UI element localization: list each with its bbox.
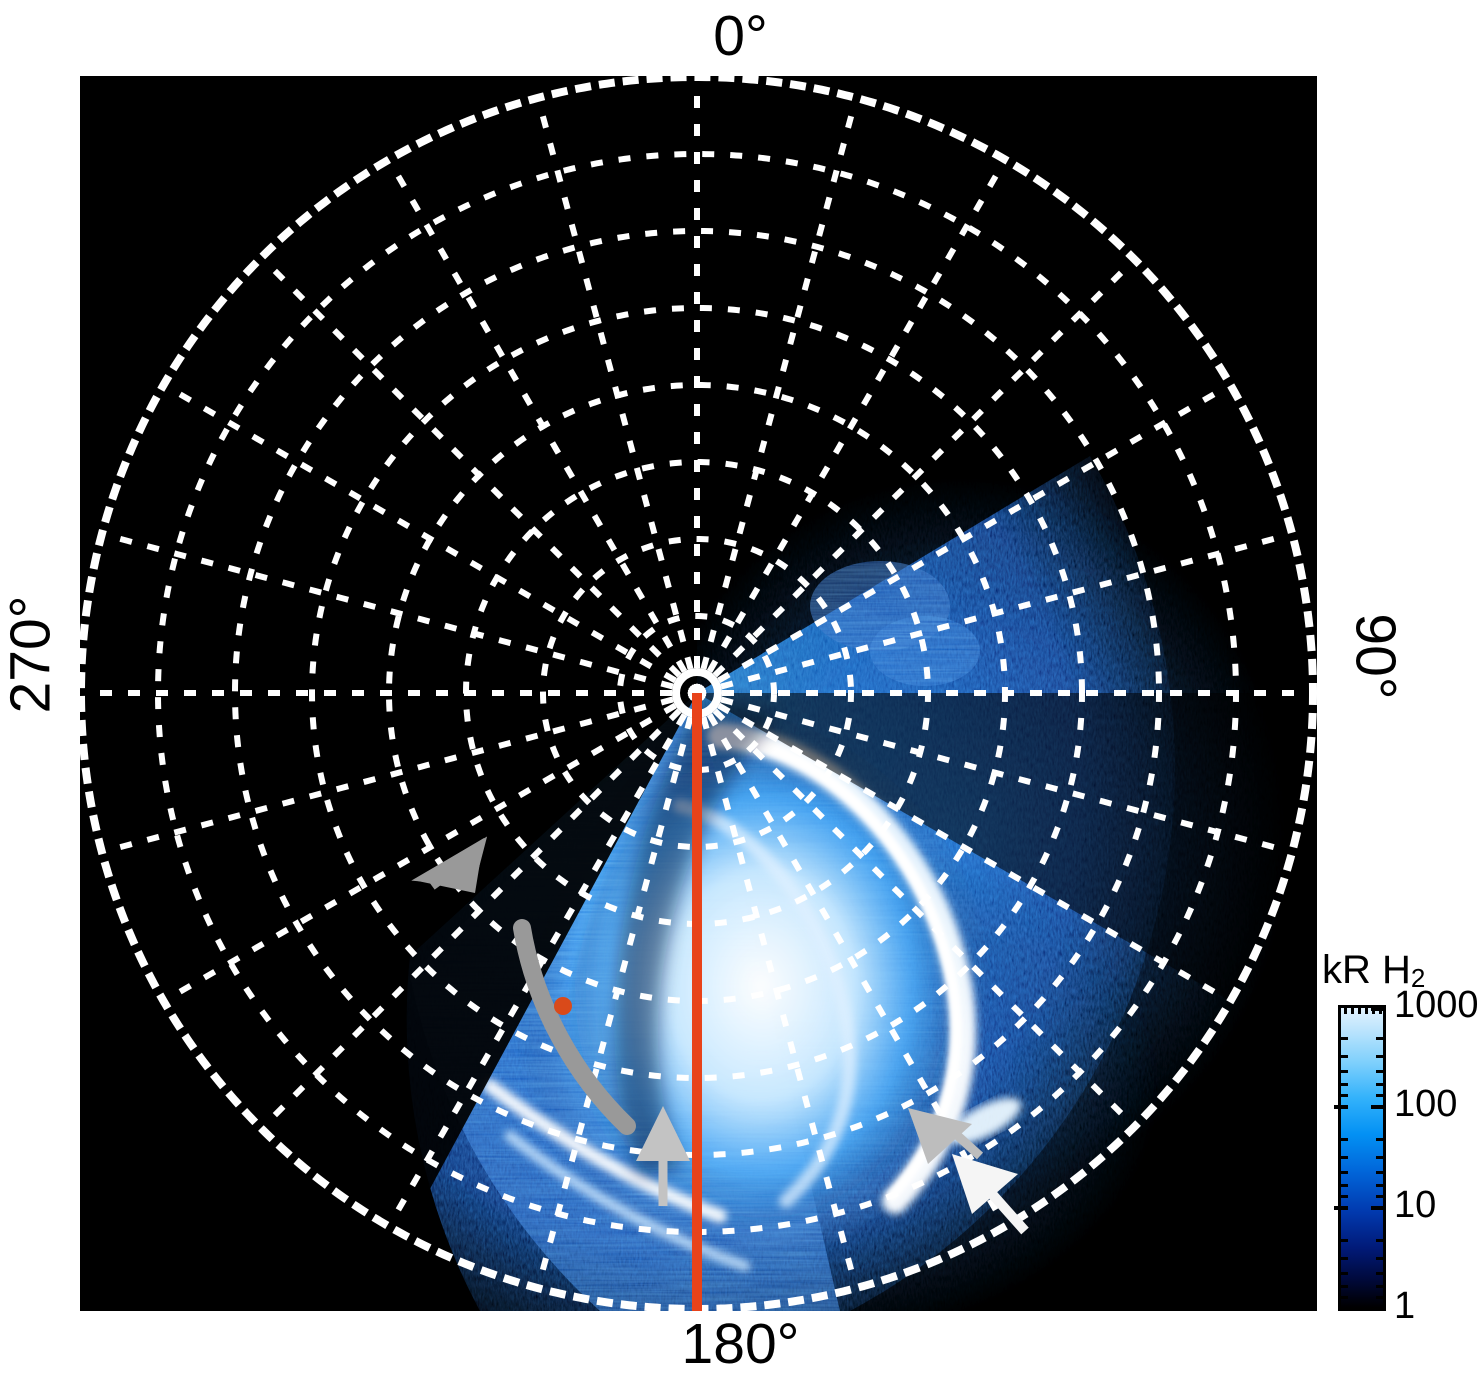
colorbar-minor-tick (1338, 1138, 1348, 1141)
axis-label-270: 270° (3, 555, 60, 755)
colorbar-minor-tick (1376, 1272, 1386, 1275)
colorbar-minor-tick (1376, 1184, 1386, 1187)
colorbar-minor-tick (1338, 1037, 1348, 1040)
colorbar-minor-tick (1338, 1171, 1348, 1174)
colorbar-minor-tick (1338, 1055, 1348, 1058)
colorbar-minor-tick (1358, 1005, 1361, 1014)
colorbar-tick-100 (1371, 1105, 1386, 1109)
polar-plot-svg (80, 76, 1317, 1311)
colorbar-minor-tick (1376, 1257, 1386, 1260)
colorbar-tick-1 (1371, 1307, 1386, 1311)
colorbar-minor-tick (1338, 1296, 1348, 1299)
colorbar-minor-tick (1338, 1257, 1348, 1260)
colorbar-minor-tick (1376, 1055, 1386, 1058)
colorbar-minor-tick (1376, 1239, 1386, 1242)
axis-label-0: 0° (0, 8, 1481, 65)
colorbar-tick-10 (1371, 1206, 1386, 1210)
colorbar-minor-tick (1376, 1094, 1386, 1097)
colorbar-minor-tick (1338, 1285, 1348, 1288)
colorbar-minor-tick (1376, 1037, 1386, 1040)
colorbar-minor-tick (1365, 1005, 1368, 1014)
colorbar-minor-tick (1344, 1005, 1347, 1014)
axis-label-180: 180° (0, 1316, 1481, 1373)
colorbar-minor-tick (1338, 1184, 1348, 1187)
colorbar-minor-tick (1338, 1083, 1348, 1086)
polar-aurora-figure: 0° 90° 180° 270° kR H2 (0, 0, 1481, 1386)
colorbar: kR H2 (1318, 950, 1481, 1330)
axis-label-90: 90° (1347, 557, 1404, 757)
colorbar-minor-tick (1338, 1239, 1348, 1242)
colorbar-minor-tick (1376, 1296, 1386, 1299)
orange-dot-marker (554, 997, 572, 1015)
colorbar-minor-tick (1376, 1195, 1386, 1198)
colorbar-minor-tick (1334, 1206, 1348, 1210)
colorbar-minor-tick (1338, 1156, 1348, 1159)
colorbar-minor-tick (1334, 1105, 1348, 1109)
polar-plot-panel (80, 76, 1317, 1311)
colorbar-label-1: 1 (1394, 1287, 1415, 1325)
colorbar-minor-tick (1376, 1285, 1386, 1288)
colorbar-label-100: 100 (1394, 1085, 1457, 1123)
colorbar-minor-tick (1376, 1138, 1386, 1141)
colorbar-minor-tick (1376, 1156, 1386, 1159)
colorbar-minor-tick (1351, 1005, 1354, 1014)
colorbar-minor-tick (1338, 1195, 1348, 1198)
colorbar-minor-tick (1372, 1005, 1375, 1014)
colorbar-minor-tick (1338, 1094, 1348, 1097)
colorbar-minor-tick (1376, 1171, 1386, 1174)
colorbar-label-1000: 1000 (1394, 986, 1479, 1024)
colorbar-minor-tick (1338, 1272, 1348, 1275)
colorbar-minor-tick (1379, 1005, 1382, 1014)
colorbar-label-10: 10 (1394, 1186, 1436, 1224)
colorbar-minor-tick (1338, 1070, 1348, 1073)
colorbar-minor-tick (1376, 1083, 1386, 1086)
colorbar-minor-tick (1376, 1070, 1386, 1073)
